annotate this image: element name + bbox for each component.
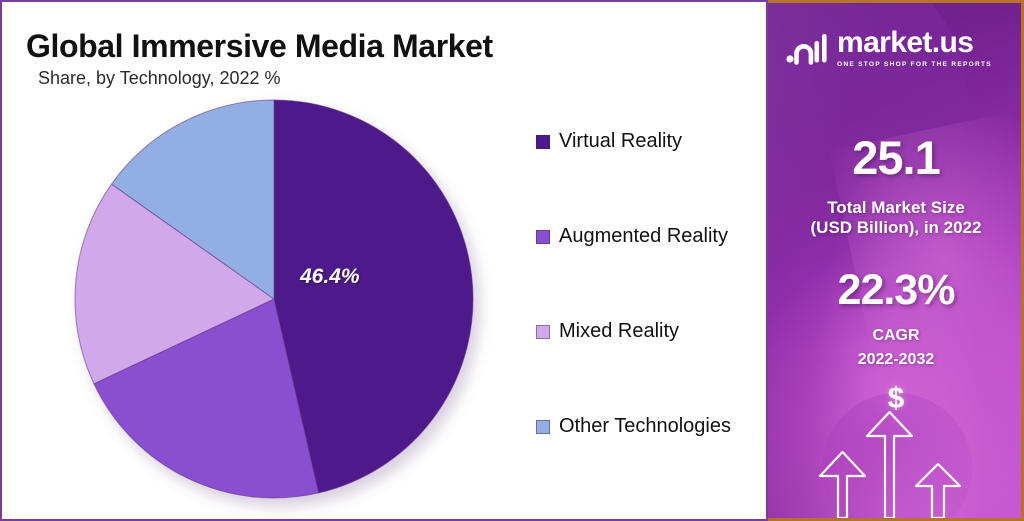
logo-tagline: ONE STOP SHOP FOR THE REPORTS: [837, 61, 992, 68]
legend-swatch-virtual-reality: [536, 135, 550, 149]
market-size-value: 25.1: [768, 134, 1024, 181]
pie-chart: 46.4%: [74, 99, 474, 499]
page-subtitle: Share, by Technology, 2022 %: [38, 68, 281, 89]
growth-arrows-graphic: $: [768, 368, 1024, 518]
legend-swatch-augmented-reality: [536, 230, 550, 244]
market-size-caption: Total Market Size (USD Billion), in 2022: [768, 198, 1024, 238]
market-size-caption-line2: (USD Billion), in 2022: [768, 218, 1024, 238]
legend-item-virtual-reality[interactable]: Virtual Reality: [536, 130, 682, 153]
legend-label-other-technologies: Other Technologies: [559, 415, 731, 438]
legend-item-augmented-reality[interactable]: Augmented Reality: [536, 225, 728, 248]
infographic-root: Global Immersive Media Market Share, by …: [0, 0, 1024, 521]
dollar-sign-icon: $: [768, 382, 1024, 416]
logo-wordmark: market.us: [837, 28, 973, 58]
legend-label-mixed-reality: Mixed Reality: [559, 320, 679, 343]
pie-svg: [74, 99, 474, 499]
legend-label-virtual-reality: Virtual Reality: [559, 130, 682, 153]
market-size-caption-line1: Total Market Size: [768, 198, 1024, 218]
cagr-value: 22.3%: [768, 269, 1024, 312]
brand-panel: market.us ONE STOP SHOP FOR THE REPORTS …: [768, 0, 1024, 521]
legend-swatch-other-technologies: [536, 420, 550, 434]
legend-item-other-technologies[interactable]: Other Technologies: [536, 415, 731, 438]
cagr-caption: CAGR: [768, 327, 1024, 346]
legend-swatch-mixed-reality: [536, 325, 550, 339]
brand-logo[interactable]: market.us ONE STOP SHOP FOR THE REPORTS: [785, 28, 992, 68]
legend-item-mixed-reality[interactable]: Mixed Reality: [536, 320, 679, 343]
market-us-logo-icon: [785, 28, 829, 68]
page-title: Global Immersive Media Market: [26, 28, 493, 65]
pie-data-label-virtual-reality: 46.4%: [300, 265, 360, 289]
chart-legend: Virtual Reality Augmented Reality Mixed …: [536, 130, 756, 470]
chart-panel: Global Immersive Media Market Share, by …: [0, 0, 768, 521]
legend-label-augmented-reality: Augmented Reality: [559, 225, 728, 248]
